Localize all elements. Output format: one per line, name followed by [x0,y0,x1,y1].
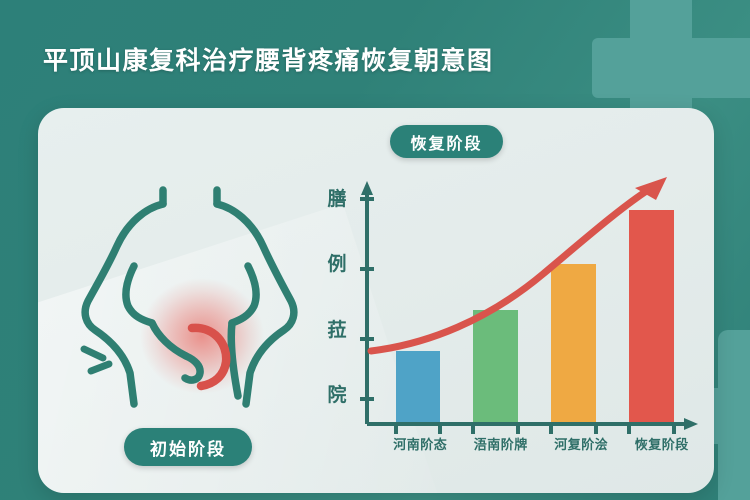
infographic-root: 平顶山康复科治疗腰背疼痛恢复朝意图 [0,0,750,500]
chart-plot-area [318,168,708,468]
y-axis [360,181,374,424]
recovery-bar-chart: 膳 例 菈 院 [318,168,708,468]
category-label-3: 恢复阶段 [622,434,703,453]
ache-motion-lines [84,349,109,371]
back-pain-illustration [62,168,312,420]
category-label-1: 浯南阶牌 [461,434,542,453]
back-pain-figure-icon [62,168,312,420]
bar-1 [473,310,518,424]
category-label-0: 河南阶态 [380,434,461,453]
cross-horizontal-bar [592,38,750,98]
page-title: 平顶山康复科治疗腰背疼痛恢复朝意图 [43,41,494,77]
growth-trend-arrow [371,177,667,351]
y-axis-arrowhead [361,181,373,195]
bar-2 [551,264,596,424]
x-axis-arrowhead [684,418,698,430]
bar-3 [629,210,674,424]
stage-badge-recovery: 恢复阶段 [390,125,503,158]
cross-vertical-bar [718,330,750,500]
bar-0 [396,351,440,424]
stage-badge-initial: 初始阶段 [124,428,252,466]
x-axis-category-labels: 河南阶态 浯南阶牌 河复阶浍 恢复阶段 [380,434,702,453]
category-label-2: 河复阶浍 [541,434,622,453]
